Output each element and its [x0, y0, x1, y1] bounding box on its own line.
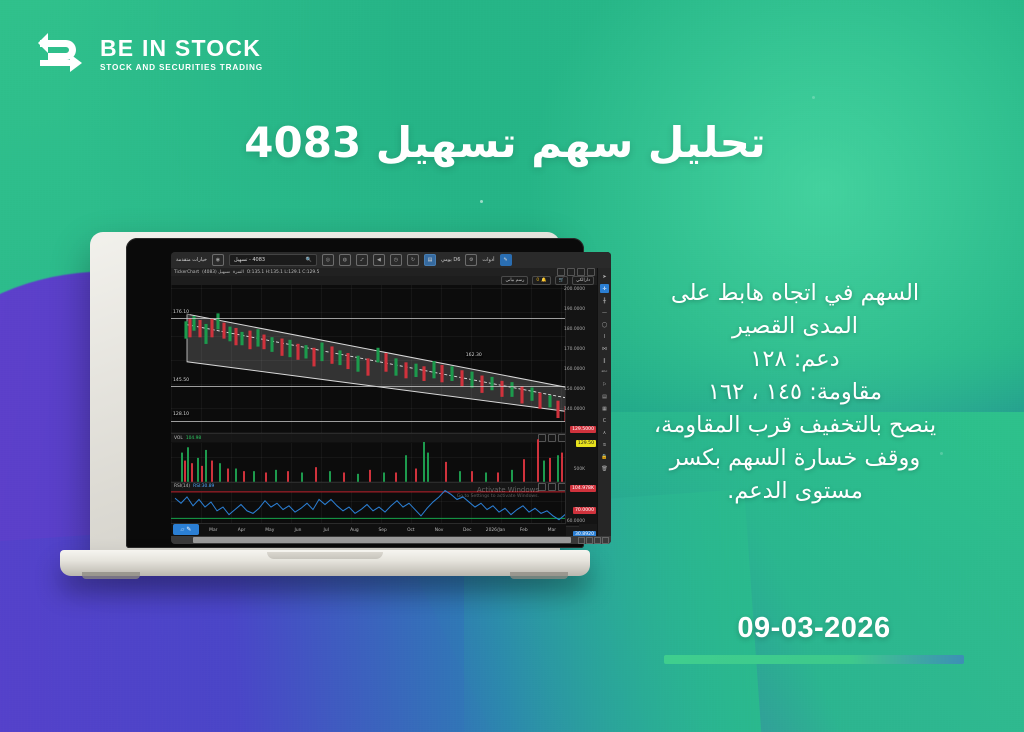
- brand-logo: BE IN STOCK STOCK AND SECURITIES TRADING: [34, 30, 263, 80]
- pane-close-icon[interactable]: [587, 268, 595, 276]
- chart-source: TickerChart: [174, 270, 199, 275]
- cursor-icon[interactable]: ➤: [600, 272, 609, 281]
- sparkle-icon: [480, 200, 483, 203]
- candlestick-series: [171, 285, 579, 433]
- globe-icon[interactable]: ◎: [322, 254, 334, 266]
- alert-count: 0: [536, 278, 539, 283]
- cart-icon[interactable]: 🛒: [555, 276, 568, 285]
- indicator-icon[interactable]: ⑇: [356, 254, 368, 266]
- laptop-base: [60, 550, 590, 576]
- alert-bell-icon[interactable]: 🔔0: [532, 276, 550, 285]
- advanced-options-label: خيارات متقدمة: [176, 257, 207, 263]
- watermark-title: Activate Windows: [477, 486, 539, 494]
- advanced-options-icon[interactable]: ◉: [212, 254, 224, 266]
- analysis-line: ووقف خسارة السهم بكسر: [604, 443, 986, 475]
- zoom-fit-icon[interactable]: [586, 537, 593, 544]
- chart-period: الفترة: [233, 270, 244, 275]
- laptop-screen: ✎ أدوات ⚙ D6 يومي ▤ ↻ ◷ ◀ ⑇ ◍ ◎: [171, 252, 611, 544]
- last-price-badge: 129.5000: [570, 426, 596, 433]
- level-label-145: 145.50: [172, 378, 190, 383]
- analysis-line: مستوى الدعم.: [604, 476, 986, 508]
- scrollbar-thumb[interactable]: [193, 537, 571, 543]
- support-line-128: [171, 421, 579, 422]
- laptop-foot-right: [510, 572, 568, 579]
- level-label-162: 162.30: [465, 353, 483, 358]
- horizontal-line-icon[interactable]: —: [600, 308, 609, 317]
- pattern-icon[interactable]: ⋏: [600, 428, 609, 437]
- resistance-line-145: [171, 386, 579, 387]
- compare-icon[interactable]: ◍: [339, 254, 351, 266]
- laptop-foot-left: [82, 572, 140, 579]
- refresh-icon[interactable]: ↻: [407, 254, 419, 266]
- level-label-176: 176.10: [172, 310, 190, 315]
- volume-series: [171, 434, 579, 482]
- lock-icon[interactable]: 🔒: [600, 452, 609, 461]
- note-icon[interactable]: ▦: [600, 404, 609, 413]
- x-tick: Mar: [538, 528, 566, 533]
- trendline-icon[interactable]: ╫: [600, 296, 609, 305]
- x-tick: Mar: [199, 528, 227, 533]
- watermark-subtitle: Go to Settings to activate Windows.: [457, 494, 539, 500]
- axis-tick: 190.0000: [564, 307, 585, 312]
- analysis-line: دعم: ١٢٨: [604, 344, 986, 376]
- x-tick: Jul: [312, 528, 340, 533]
- price-axis[interactable]: 200.0000 190.0000 180.0000 170.0000 160.…: [565, 285, 598, 524]
- ellipse-icon[interactable]: ◯: [600, 320, 609, 329]
- analysis-text: السهم في اتجاه هابط على المدى القصير دعم…: [604, 278, 986, 509]
- x-tick: Aug: [340, 528, 368, 533]
- fibonacci-icon[interactable]: ⋈: [600, 344, 609, 353]
- rsi-overbought-badge: 70.0000: [573, 507, 596, 514]
- resistance-line-176: [171, 318, 579, 319]
- pane-settings-icon[interactable]: [567, 268, 575, 276]
- x-tick: Oct: [397, 528, 425, 533]
- zoom-out-icon[interactable]: [594, 537, 601, 544]
- zoom-reset-icon[interactable]: [578, 537, 585, 544]
- windows-activation-watermark: Activate Windows Go to Settings to activ…: [457, 486, 539, 500]
- x-tick: Jun: [284, 528, 312, 533]
- search-value: 4083 - تسهيل: [234, 257, 265, 263]
- price-pane[interactable]: 176.10 162.30 145.50 128.10: [171, 285, 579, 434]
- currency-chip[interactable]: دارالكي: [572, 276, 594, 285]
- chart-symbol: تسهيل (4083): [202, 270, 230, 275]
- chart-ohlc: O:135.1 H:135.1 L:129.1 C:129.5: [247, 270, 320, 275]
- analysis-line: ينصح بالتخفيف قرب المقاومة،: [604, 410, 986, 442]
- draw-pen-icon[interactable]: ✎: [500, 254, 512, 266]
- tickerchart-app: ✎ أدوات ⚙ D6 يومي ▤ ↻ ◷ ◀ ⑇ ◍ ◎: [171, 252, 611, 544]
- axis-tick: 140.0000: [564, 407, 585, 412]
- draw-mode-button[interactable]: ▱ ✎: [173, 524, 199, 535]
- price-alert-badge: 129.50: [576, 440, 596, 447]
- time-axis[interactable]: Feb Mar Apr May Jun Jul Aug Sep Oct Nov …: [171, 523, 566, 536]
- flag-icon[interactable]: ⚐: [600, 380, 609, 389]
- draw-mode-icon: ▱: [181, 527, 185, 533]
- axis-tick: 170.0000: [564, 347, 585, 352]
- pane-hide-icon[interactable]: [577, 268, 585, 276]
- axis-tick: 160.0000: [564, 367, 585, 372]
- clock-icon[interactable]: ◷: [390, 254, 402, 266]
- rsi-axis-tick-60: 60.0000: [567, 519, 585, 524]
- page-title: تحليل سهم تسهيل 4083: [240, 118, 770, 167]
- zoom-in-icon[interactable]: [602, 537, 609, 544]
- magnet-icon[interactable]: C: [600, 416, 609, 425]
- be-in-stock-arrows-logo-icon: [34, 30, 86, 80]
- x-tick: May: [256, 528, 284, 533]
- x-tick: Apr: [227, 528, 255, 533]
- axis-tick: 150.0000: [564, 387, 585, 392]
- volume-axis-tick: 500K: [574, 467, 585, 472]
- search-icon: 🔍: [306, 257, 312, 263]
- analysis-line: السهم في اتجاه هابط على: [604, 278, 986, 310]
- laptop-base-notch: [267, 552, 383, 559]
- publish-date: 09-03-2026: [664, 612, 964, 645]
- brand-tagline: STOCK AND SECURITIES TRADING: [100, 64, 263, 72]
- axis-tick: 180.0000: [564, 327, 585, 332]
- alert-icon[interactable]: ◀: [373, 254, 385, 266]
- trash-icon[interactable]: 🗑: [600, 464, 609, 473]
- chart-type-chip[interactable]: رسم بياني: [501, 276, 528, 285]
- rsi-pane[interactable]: RSI(14) RSI:30.89: [171, 483, 579, 527]
- analysis-line: المدى القصير: [604, 311, 986, 343]
- crosshair-icon[interactable]: ✛: [600, 284, 609, 293]
- measure-icon[interactable]: ▤: [600, 392, 609, 401]
- volume-pane[interactable]: VOL 104.98: [171, 434, 579, 483]
- x-tick: Nov: [425, 528, 453, 533]
- toolbar-period-label: D6 يومي: [441, 257, 460, 263]
- x-tick: Feb: [510, 528, 538, 533]
- x-tick: Dec: [453, 528, 481, 533]
- date-underline: [664, 655, 964, 664]
- volume-badge: 104.978K: [570, 485, 596, 492]
- laptop-mockup: ✎ أدوات ⚙ D6 يومي ▤ ↻ ◷ ◀ ⑇ ◍ ◎: [60, 232, 590, 590]
- chart-zoom-tools[interactable]: [578, 537, 609, 544]
- laptop-bezel: ✎ أدوات ⚙ D6 يومي ▤ ↻ ◷ ◀ ⑇ ◍ ◎: [126, 238, 584, 548]
- currency-label: دارالكي: [576, 278, 590, 283]
- template-icon[interactable]: ▤: [424, 254, 436, 266]
- symbol-search-input[interactable]: 🔍 4083 - تسهيل: [229, 254, 317, 266]
- text-icon[interactable]: I: [600, 332, 609, 341]
- sparkle-icon: [812, 96, 815, 99]
- level-label-128: 128.10: [172, 412, 190, 417]
- drawing-tools-sidebar[interactable]: ➤ ✛ ╫ — ◯ I ⋈ ∥ ᵃᵇᶜ ⚐ ▤ ▦ C: [597, 268, 611, 544]
- toolbar-settings-label: أدوات: [482, 257, 494, 263]
- pane-minimize-icon[interactable]: [557, 268, 565, 276]
- poster-canvas: BE IN STOCK STOCK AND SECURITIES TRADING…: [0, 0, 1024, 732]
- hide-icon[interactable]: ⦸: [600, 440, 609, 449]
- gear-icon[interactable]: ⚙: [465, 254, 477, 266]
- date-block: 09-03-2026: [664, 612, 964, 664]
- abc-pattern-icon[interactable]: ᵃᵇᶜ: [600, 368, 609, 377]
- laptop-lid: ✎ أدوات ⚙ D6 يومي ▤ ↻ ◷ ◀ ⑇ ◍ ◎: [90, 232, 560, 554]
- analysis-line: مقاومة: ١٤٥ ، ١٦٢: [604, 377, 986, 409]
- x-tick: Sep: [369, 528, 397, 533]
- brand-name: BE IN STOCK: [100, 37, 263, 60]
- app-toolbar[interactable]: ✎ أدوات ⚙ D6 يومي ▤ ↻ ◷ ◀ ⑇ ◍ ◎: [171, 252, 611, 269]
- axis-tick: 200.0000: [564, 287, 585, 292]
- pencil-icon: ✎: [186, 526, 191, 533]
- x-tick: 2026/Jan: [481, 528, 509, 533]
- chart-panes[interactable]: 176.10 162.30 145.50 128.10: [171, 285, 579, 524]
- horizontal-scrollbar[interactable]: [171, 536, 611, 544]
- parallel-channel-icon[interactable]: ∥: [600, 356, 609, 365]
- chart-type-label: رسم بياني: [505, 278, 524, 283]
